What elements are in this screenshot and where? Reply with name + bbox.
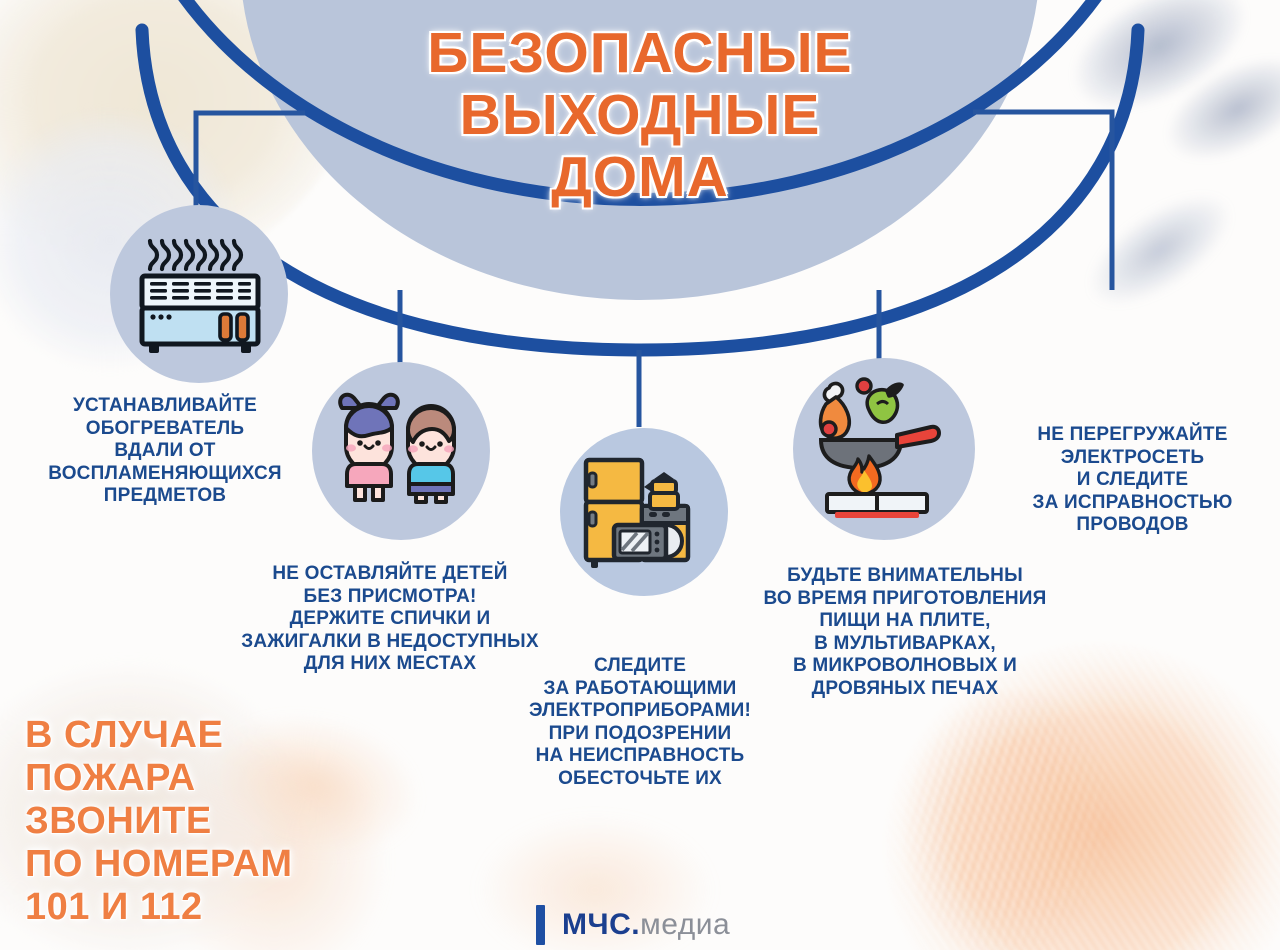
title-line-2: ВЫХОДНЫЕ [0,84,1280,146]
logo-suffix: медиа [640,908,730,941]
tip-bubble-appliances[interactable] [560,428,728,596]
logo-bar-icon [536,905,545,945]
title-line-1: БЕЗОПАСНЫЕ [0,22,1280,84]
tip-bubble-heater[interactable] [110,205,288,383]
logo-brand: МЧС [562,908,631,941]
emergency-call-text: В СЛУЧАЕ ПОЖАРА ЗВОНИТЕ ПО НОМЕРАМ 101 И… [25,714,293,929]
appliances-icon [574,446,714,578]
frying-pan-icon [807,374,962,524]
tip-bubble-children[interactable] [312,362,490,540]
logo-dot: . [631,908,640,941]
mchs-media-logo[interactable]: МЧС.медиа [536,905,730,945]
poster-title: БЕЗОПАСНЫЕ ВЫХОДНЫЕ ДОМА [0,22,1280,208]
title-line-3: ДОМА [0,146,1280,208]
logo-text: МЧС.медиа [562,908,730,942]
heater-icon [124,224,274,364]
tip-caption-heater: УСТАНАВЛИВАЙТЕ ОБОГРЕВАТЕЛЬ ВДАЛИ ОТ ВОС… [10,395,320,508]
tip-caption-wiring: НЕ ПЕРЕГРУЖАЙТЕ ЭЛЕКТРОСЕТЬ И СЛЕДИТЕ ЗА… [985,424,1280,537]
tip-caption-cooking: БУДЬТЕ ВНИМАТЕЛЬНЫ ВО ВРЕМЯ ПРИГОТОВЛЕНИ… [735,565,1075,700]
infographic-poster: БЕЗОПАСНЫЕ ВЫХОДНЫЕ ДОМА [0,0,1280,950]
children-icon [326,386,476,516]
tip-bubble-cooking[interactable] [793,358,975,540]
